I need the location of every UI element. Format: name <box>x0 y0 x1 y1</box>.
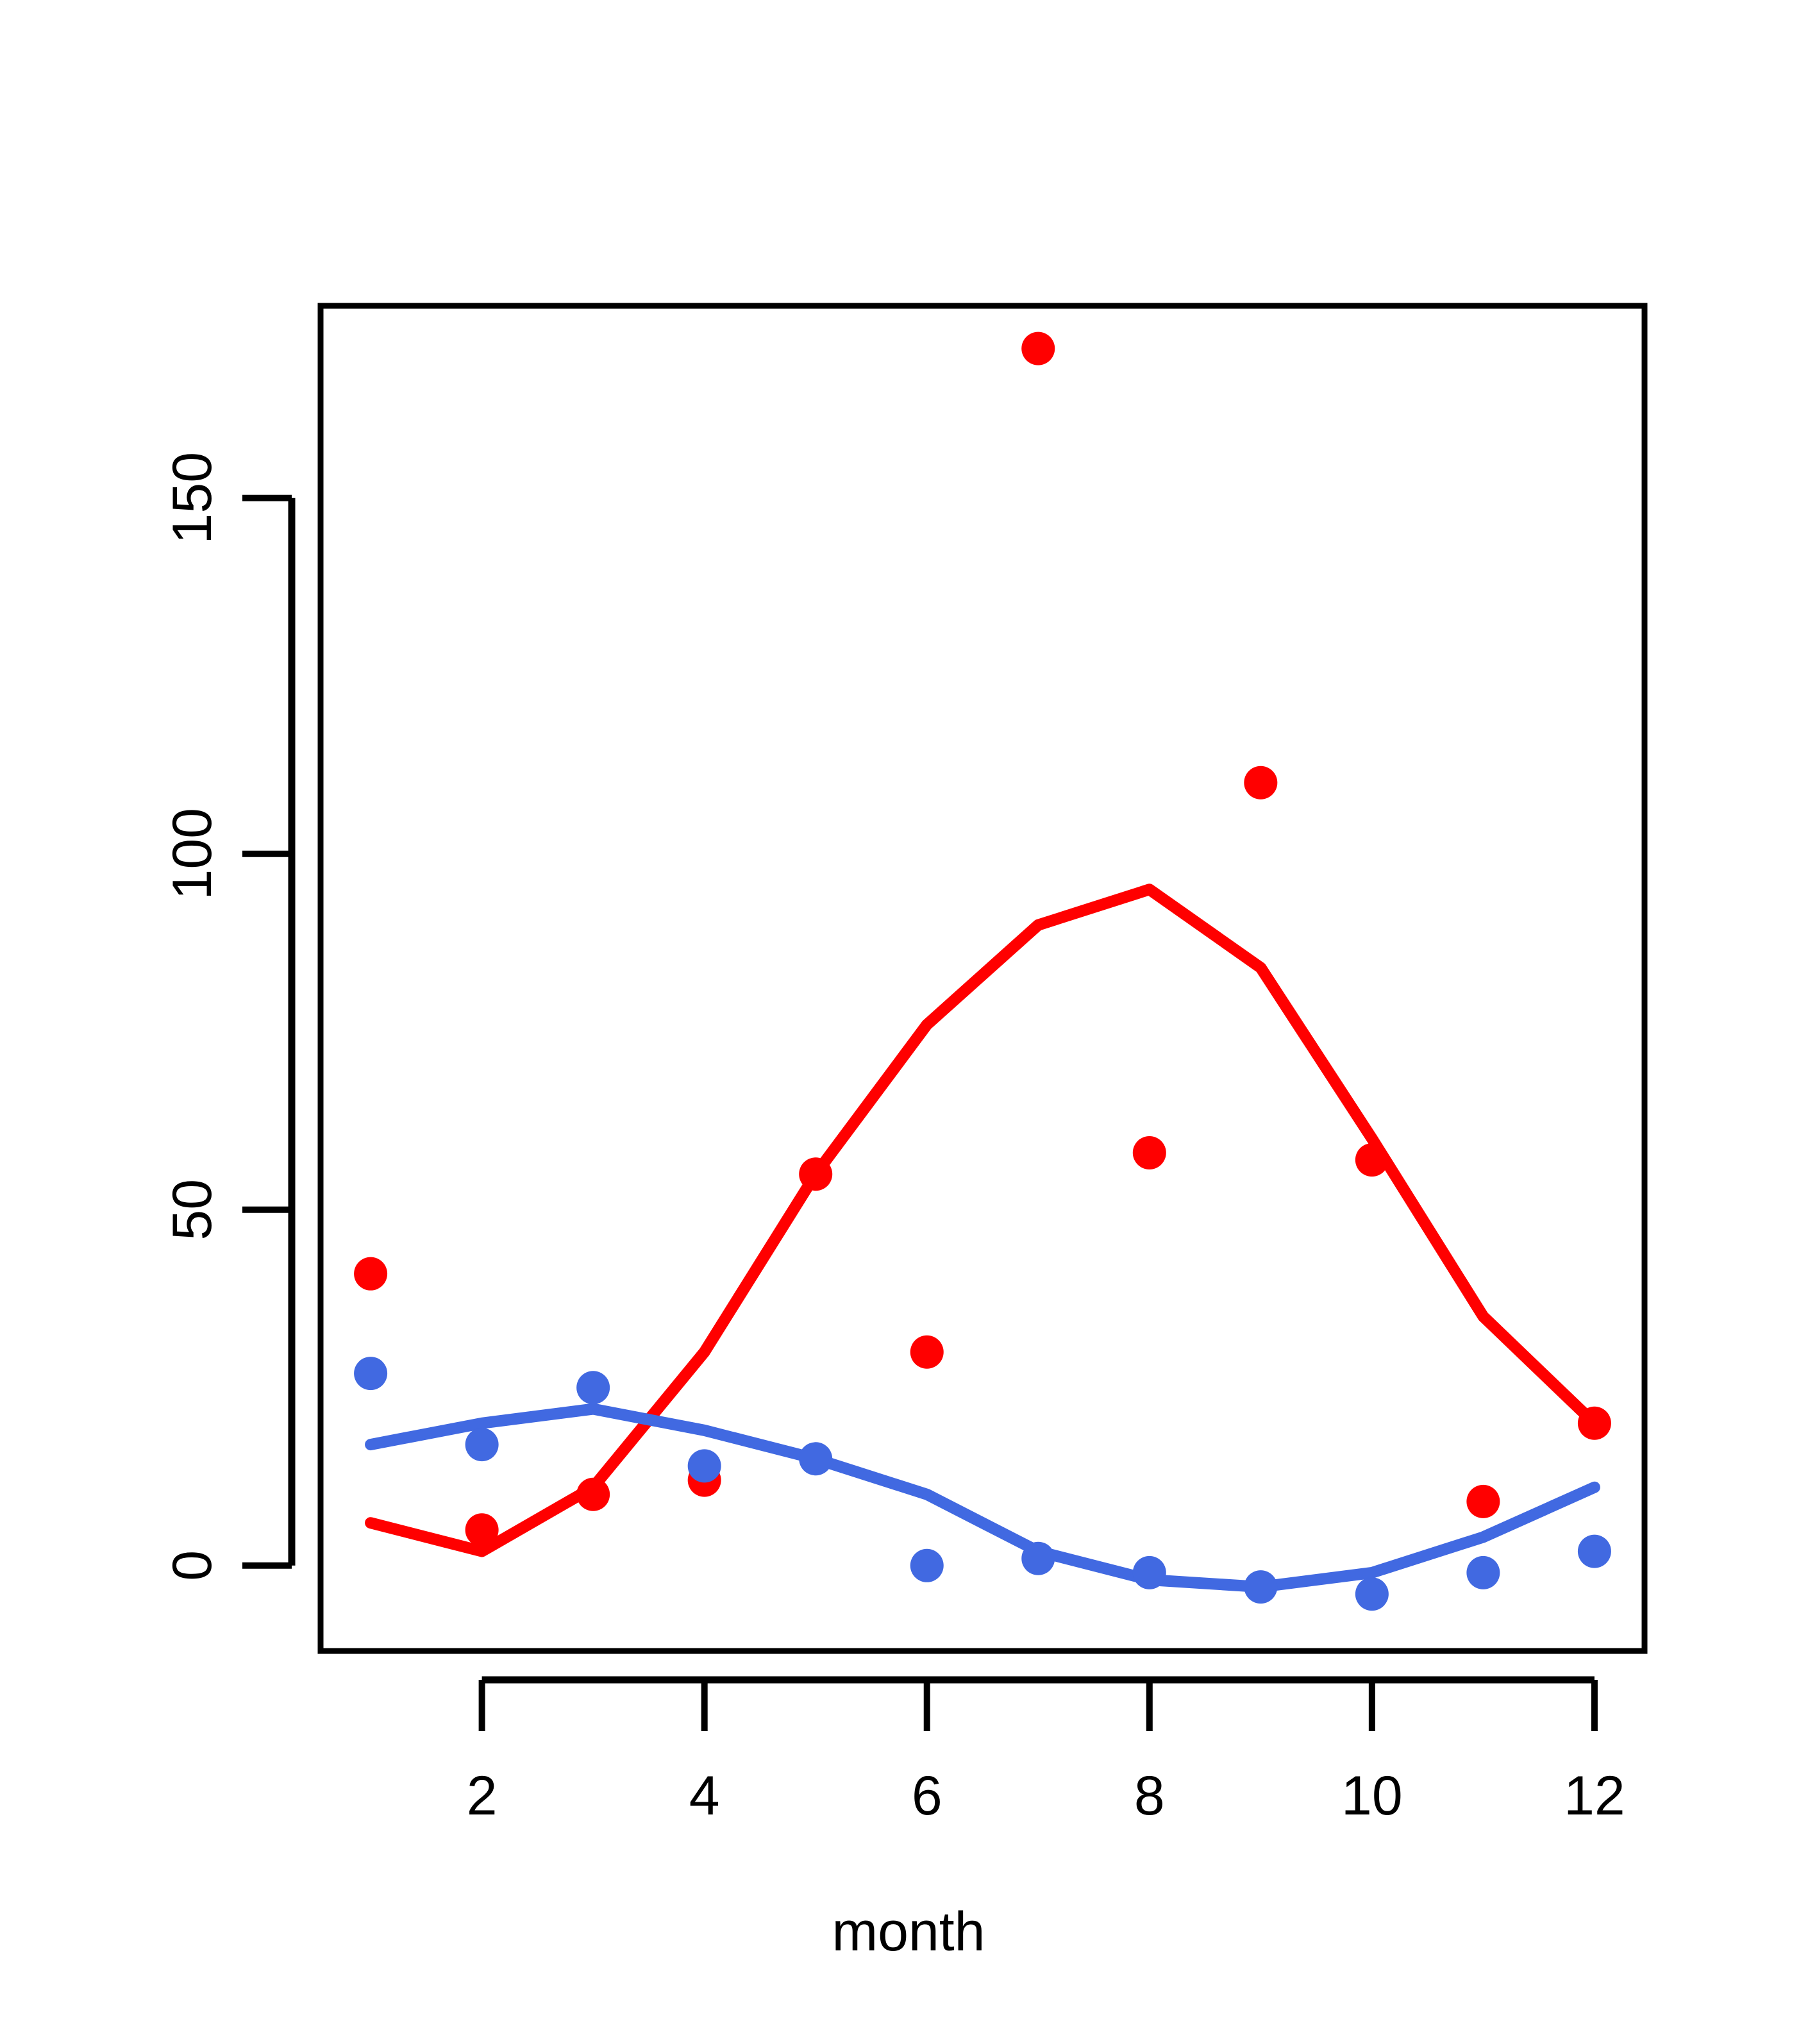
data-point <box>465 1513 499 1546</box>
y-tick-label: 100 <box>162 808 223 900</box>
data-point <box>1466 1556 1500 1589</box>
data-point <box>1578 1535 1611 1568</box>
data-point <box>799 1157 832 1191</box>
data-point <box>1244 766 1277 800</box>
data-point <box>1021 1542 1055 1575</box>
data-point <box>1133 1136 1166 1169</box>
x-tick-label: 12 <box>1564 1765 1625 1827</box>
data-point <box>799 1442 832 1475</box>
chart-page: GHCN-D_USC00412758_03_rr 050100150 24681… <box>0 0 1817 2044</box>
data-point <box>1355 1577 1389 1611</box>
data-point <box>688 1449 721 1482</box>
data-point <box>910 1336 944 1369</box>
data-point <box>1578 1407 1611 1440</box>
x-axis-label: month <box>0 1904 1817 1959</box>
data-point <box>576 1371 610 1404</box>
y-tick-label: 50 <box>162 1179 223 1241</box>
x-tick-label: 10 <box>1341 1765 1403 1827</box>
data-point <box>1244 1570 1277 1604</box>
data-point <box>576 1478 610 1511</box>
x-tick-label: 6 <box>912 1765 942 1827</box>
data-point <box>910 1549 944 1582</box>
y-tick-label: 150 <box>162 452 223 544</box>
data-point <box>1355 1143 1389 1177</box>
x-tick-label: 4 <box>689 1765 720 1827</box>
x-tick-label: 8 <box>1134 1765 1165 1827</box>
data-point <box>465 1428 499 1461</box>
x-tick-label: 2 <box>467 1765 498 1827</box>
plot-canvas: 050100150 24681012 <box>0 0 1817 2044</box>
data-point <box>354 1257 387 1291</box>
data-point <box>1466 1485 1500 1518</box>
data-point <box>1133 1556 1166 1589</box>
y-tick-label: 0 <box>162 1550 223 1581</box>
data-point <box>354 1357 387 1390</box>
data-point <box>1021 332 1055 365</box>
